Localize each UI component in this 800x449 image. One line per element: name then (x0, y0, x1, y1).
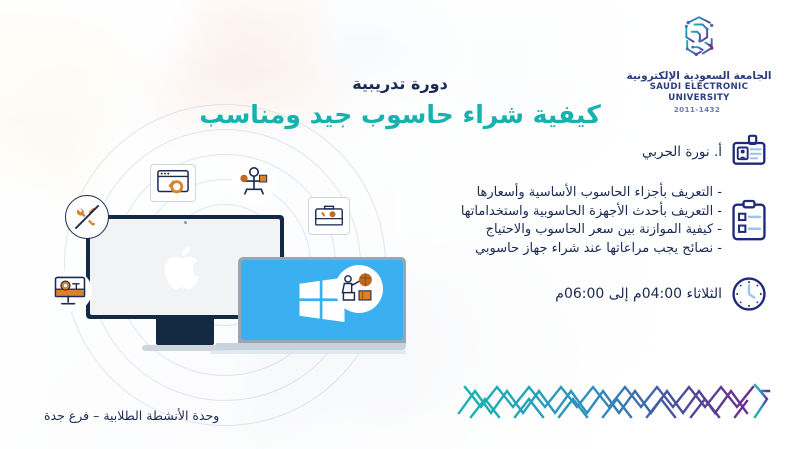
clipboard-checklist-glyph (729, 199, 769, 243)
no-tools-icon (65, 195, 109, 239)
id-badge-icon (722, 134, 776, 170)
topic-item: - التعريف بأجزاء الحاسوب الأساسية وأسعار… (312, 184, 722, 203)
topic-item: - التعريف بأحدث الأجهزة الحاسوبية واستخد… (312, 203, 722, 222)
balance-person-glyph (234, 162, 274, 202)
seu-hex-circuit-logo-icon (670, 10, 728, 68)
schedule-text: الثلاثاء 04:00م إلى 06:00م (312, 286, 722, 302)
presenter-row: أ. نورة الحربي (306, 134, 776, 170)
apple-logo-icon (164, 242, 206, 292)
balance-person-icon (232, 160, 276, 204)
presenter-name: أ. نورة الحربي (312, 144, 722, 160)
footer-text: وحدة الأنشطة الطلابية – فرع جدة (44, 408, 219, 423)
browser-settings-icon (150, 164, 196, 202)
topic-item: - كيفية الموازنة بين سعر الحاسوب والاحتي… (312, 221, 722, 240)
monitor-gear-glyph (50, 272, 90, 310)
info-column: أ. نورة الحربي - التعريف بأجزاء الحاسوب … (306, 128, 776, 324)
schedule-row: الثلاثاء 04:00م إلى 06:00م (306, 274, 776, 314)
topics-row: - التعريف بأجزاء الحاسوب الأساسية وأسعار… (306, 184, 776, 258)
no-tools-glyph (70, 200, 104, 234)
monitor-gear-icon (48, 270, 92, 312)
topic-item: - نصائح يجب مراعاتها عند شراء جهاز حاسوب… (312, 240, 722, 259)
browser-settings-glyph (154, 167, 192, 199)
id-badge-glyph (729, 134, 769, 170)
page-title: كيفية شراء حاسوب جيد ومناسب (0, 100, 800, 129)
poster-canvas: الجامعة السعودية الإلكترونية SAUDI ELECT… (0, 0, 800, 449)
clipboard-checklist-icon (722, 199, 776, 243)
clock-glyph (729, 274, 769, 314)
circuit-zigzag-band (455, 373, 785, 429)
clock-icon (722, 274, 776, 314)
topics-list: - التعريف بأجزاء الحاسوب الأساسية وأسعار… (312, 184, 722, 258)
course-kicker: دورة تدريبية (0, 74, 800, 93)
